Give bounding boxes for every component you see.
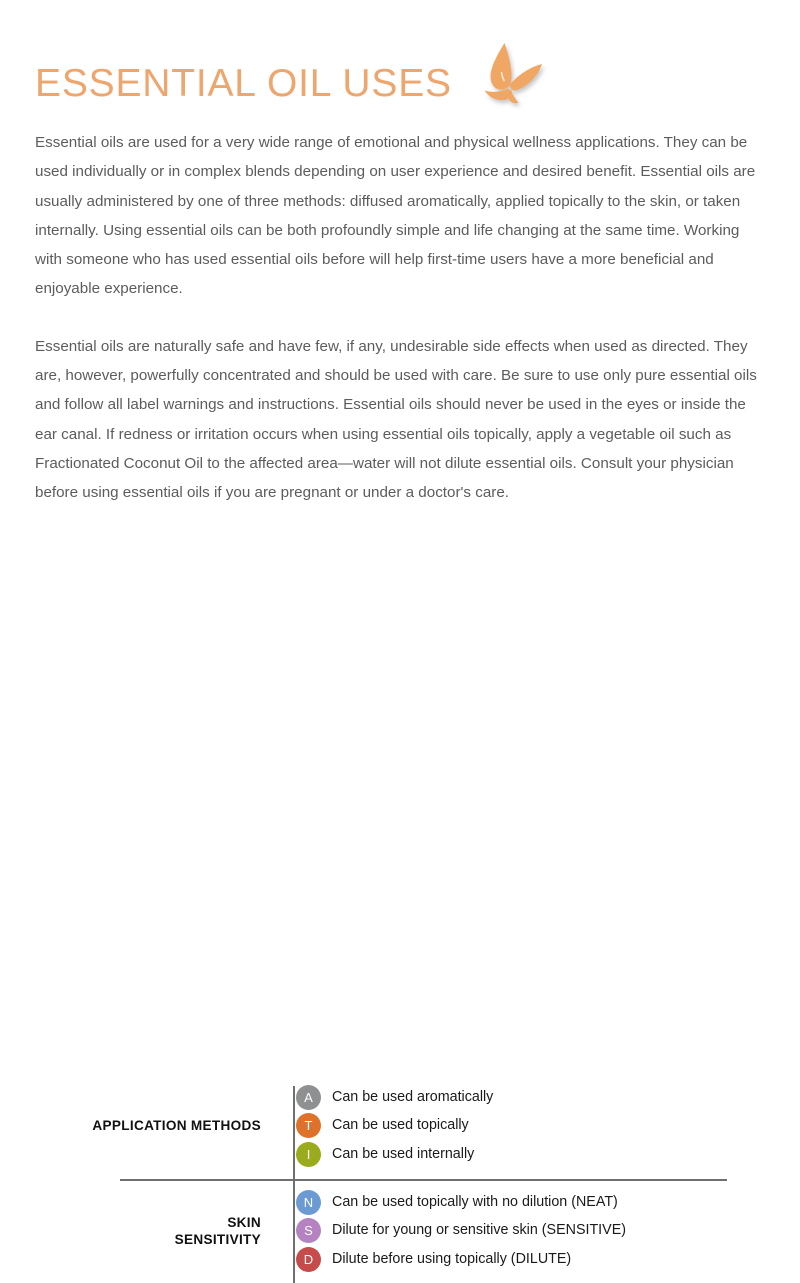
page-root: ESSENTIAL OIL USES Essential oils are: [0, 0, 800, 800]
group-label-line: SENSITIVITY: [0, 1231, 261, 1248]
legend-item-neat: N Can be used topically with no dilution…: [296, 1188, 626, 1217]
legend-item-label: Can be used topically with no dilution (…: [332, 1193, 618, 1212]
paragraph-2: Essential oils are naturally safe and ha…: [35, 332, 768, 508]
legend-item-topical: T Can be used topically: [296, 1112, 493, 1141]
badge-n-icon: N: [296, 1190, 321, 1215]
group-label-application-methods: APPLICATION METHODS: [0, 1117, 277, 1134]
legend-item-internal: I Can be used internally: [296, 1140, 493, 1169]
legend-group-skin-sensitivity: SKIN SENSITIVITY N Can be used topically…: [0, 1188, 800, 1274]
legend-rows-skin-sensitivity: N Can be used topically with no dilution…: [296, 1188, 626, 1274]
legend-item-label: Can be used internally: [332, 1145, 474, 1164]
legend-rows-application-methods: A Can be used aromatically T Can be used…: [296, 1083, 493, 1169]
legend-item-dilute: D Dilute before using topically (DILUTE): [296, 1245, 626, 1274]
legend-item-label: Can be used topically: [332, 1116, 469, 1135]
badge-s-icon: S: [296, 1218, 321, 1243]
badge-d-icon: D: [296, 1247, 321, 1272]
group-label-skin-sensitivity: SKIN SENSITIVITY: [0, 1214, 277, 1248]
page-title: ESSENTIAL OIL USES: [35, 64, 452, 103]
legend-item-label: Can be used aromatically: [332, 1088, 493, 1107]
badge-t-icon: T: [296, 1113, 321, 1138]
leaf-butterfly-icon: [468, 41, 554, 113]
group-label-line: SKIN: [0, 1214, 261, 1231]
group-label-line: APPLICATION METHODS: [0, 1117, 261, 1134]
badge-a-icon: A: [296, 1085, 321, 1110]
legend-horizontal-divider: [120, 1179, 727, 1181]
legend-item-aromatic: A Can be used aromatically: [296, 1083, 493, 1112]
legend-item-label: Dilute for young or sensitive skin (SENS…: [332, 1221, 626, 1240]
badge-i-icon: I: [296, 1142, 321, 1167]
page-header: ESSENTIAL OIL USES: [35, 52, 765, 114]
body-copy: Essential oils are used for a very wide …: [35, 128, 768, 508]
legend-item-label: Dilute before using topically (DILUTE): [332, 1250, 571, 1269]
legend-group-application-methods: APPLICATION METHODS A Can be used aromat…: [0, 1083, 800, 1169]
paragraph-1: Essential oils are used for a very wide …: [35, 128, 768, 304]
legend-section: APPLICATION METHODS A Can be used aromat…: [0, 540, 800, 770]
legend-item-sensitive: S Dilute for young or sensitive skin (SE…: [296, 1217, 626, 1246]
